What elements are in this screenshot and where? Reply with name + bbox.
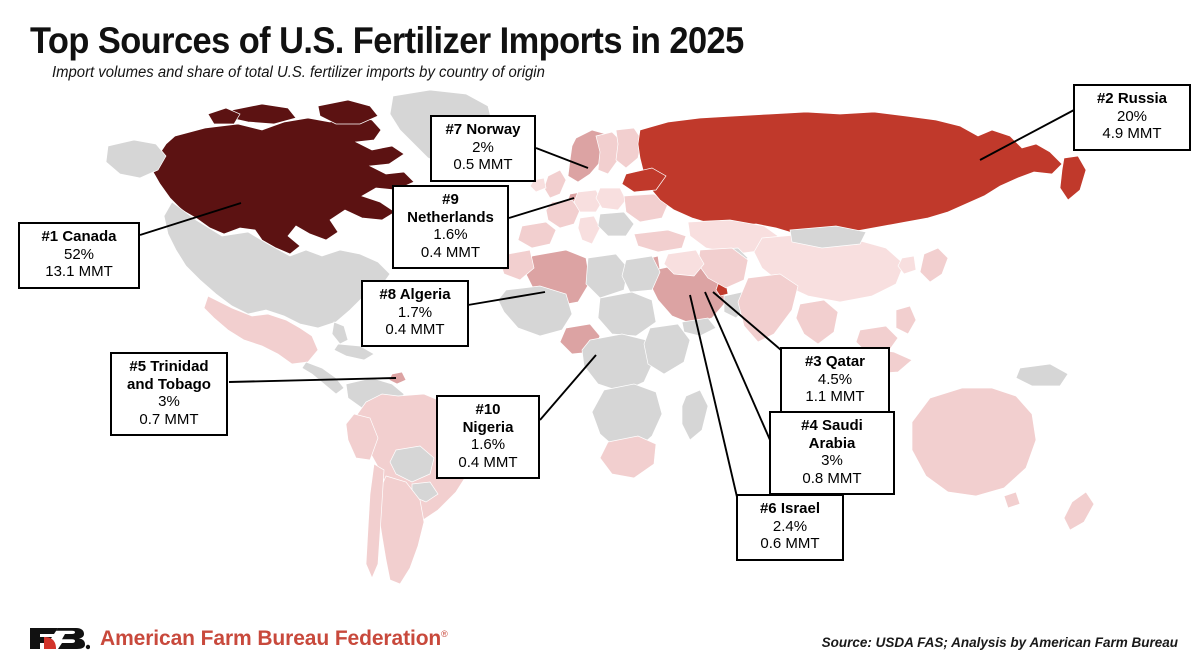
callout-russia-pct: 20% (1084, 108, 1180, 126)
callout-israel-pct: 2.4% (747, 518, 833, 536)
country-spain (518, 222, 556, 248)
country-philippines (896, 306, 916, 334)
callout-trinidad-and-tobago[interactable]: #5 Trinidad and Tobago 3% 0.7 MMT (110, 352, 228, 436)
callout-israel[interactable]: #6 Israel 2.4% 0.6 MMT (736, 494, 844, 561)
country-central-africa (582, 334, 654, 392)
callout-canada-pct: 52% (29, 246, 129, 264)
callout-trinidad-rank2: and Tobago (121, 376, 217, 394)
callout-canada[interactable]: #1 Canada 52% 13.1 MMT (18, 222, 140, 289)
country-papua-new-guinea (1016, 364, 1068, 386)
country-united-kingdom (544, 170, 566, 198)
country-russia (638, 112, 1062, 236)
country-southeast-asia (796, 300, 838, 344)
country-russia-kamchatka (1060, 156, 1086, 200)
callout-saudi-arabia-rank: #4 Saudi (780, 417, 884, 435)
country-tasmania (1004, 492, 1020, 508)
footer-source: Source: USDA FAS; Analysis by American F… (822, 635, 1178, 650)
country-new-zealand (1064, 492, 1094, 530)
callout-netherlands-rank: #9 (403, 191, 498, 209)
registered-mark: ® (441, 629, 448, 639)
callout-nigeria[interactable]: #10 Nigeria 1.6% 0.4 MMT (436, 395, 540, 479)
callout-algeria[interactable]: #8 Algeria 1.7% 0.4 MMT (361, 280, 469, 347)
callout-saudi-arabia[interactable]: #4 Saudi Arabia 3% 0.8 MMT (769, 411, 895, 495)
country-australia (912, 388, 1036, 496)
callout-norway-rank: #7 Norway (441, 121, 525, 139)
country-italy (578, 216, 600, 244)
american-farm-bureau-logo-icon (28, 625, 90, 651)
country-central-america (302, 362, 344, 394)
callout-nigeria-rank: #10 (447, 401, 529, 419)
callout-algeria-rank: #8 Algeria (372, 286, 458, 304)
country-madagascar (682, 390, 708, 440)
callout-saudi-arabia-pct: 3% (780, 452, 884, 470)
country-poland (596, 188, 626, 210)
callout-qatar[interactable]: #3 Qatar 4.5% 1.1 MMT (780, 347, 890, 414)
callout-russia-rank: #2 Russia (1084, 90, 1180, 108)
callout-nigeria-rank2: Nigeria (447, 419, 529, 437)
callout-trinidad-vol: 0.7 MMT (121, 411, 217, 429)
map-countries (106, 90, 1094, 584)
callout-canada-rank: #1 Canada (29, 228, 129, 246)
callout-nigeria-pct: 1.6% (447, 436, 529, 454)
callout-qatar-vol: 1.1 MMT (791, 388, 879, 406)
page-title: Top Sources of U.S. Fertilizer Imports i… (30, 20, 744, 62)
callout-netherlands[interactable]: #9 Netherlands 1.6% 0.4 MMT (392, 185, 509, 269)
callout-norway-pct: 2% (441, 139, 525, 157)
callout-israel-rank: #6 Israel (747, 500, 833, 518)
callout-russia-vol: 4.9 MMT (1084, 125, 1180, 143)
callout-netherlands-rank2: Netherlands (403, 209, 498, 227)
callout-israel-vol: 0.6 MMT (747, 535, 833, 553)
callout-algeria-vol: 0.4 MMT (372, 321, 458, 339)
country-india (738, 274, 798, 342)
world-map-svg (0, 78, 1200, 608)
callout-trinidad-pct: 3% (121, 393, 217, 411)
country-japan (920, 248, 948, 282)
footer: American Farm Bureau Federation® Source:… (0, 608, 1200, 670)
callout-saudi-arabia-vol: 0.8 MMT (780, 470, 884, 488)
callout-netherlands-vol: 0.4 MMT (403, 244, 498, 262)
country-balkans (598, 212, 634, 236)
callout-saudi-arabia-rank2: Arabia (780, 435, 884, 453)
world-map (0, 78, 1200, 608)
footer-org-label: American Farm Bureau Federation (100, 627, 441, 650)
country-west-africa (498, 286, 572, 336)
callout-russia[interactable]: #2 Russia 20% 4.9 MMT (1073, 84, 1191, 151)
callout-trinidad-rank: #5 Trinidad (121, 358, 217, 376)
callout-norway[interactable]: #7 Norway 2% 0.5 MMT (430, 115, 536, 182)
callout-algeria-pct: 1.7% (372, 304, 458, 322)
callout-canada-vol: 13.1 MMT (29, 263, 129, 281)
country-sudan (598, 292, 656, 336)
callout-qatar-rank: #3 Qatar (791, 353, 879, 371)
country-trinidad-and-tobago (389, 372, 406, 384)
country-south-africa (600, 436, 656, 478)
callout-netherlands-pct: 1.6% (403, 226, 498, 244)
footer-org-name: American Farm Bureau Federation® (100, 627, 448, 651)
country-usa-florida (332, 322, 348, 344)
callout-norway-vol: 0.5 MMT (441, 156, 525, 174)
callout-qatar-pct: 4.5% (791, 371, 879, 389)
country-france (546, 200, 580, 228)
infographic-root: Top Sources of U.S. Fertilizer Imports i… (0, 0, 1200, 670)
country-finland (616, 128, 642, 168)
callout-nigeria-vol: 0.4 MMT (447, 454, 529, 472)
country-turkey (634, 230, 686, 252)
